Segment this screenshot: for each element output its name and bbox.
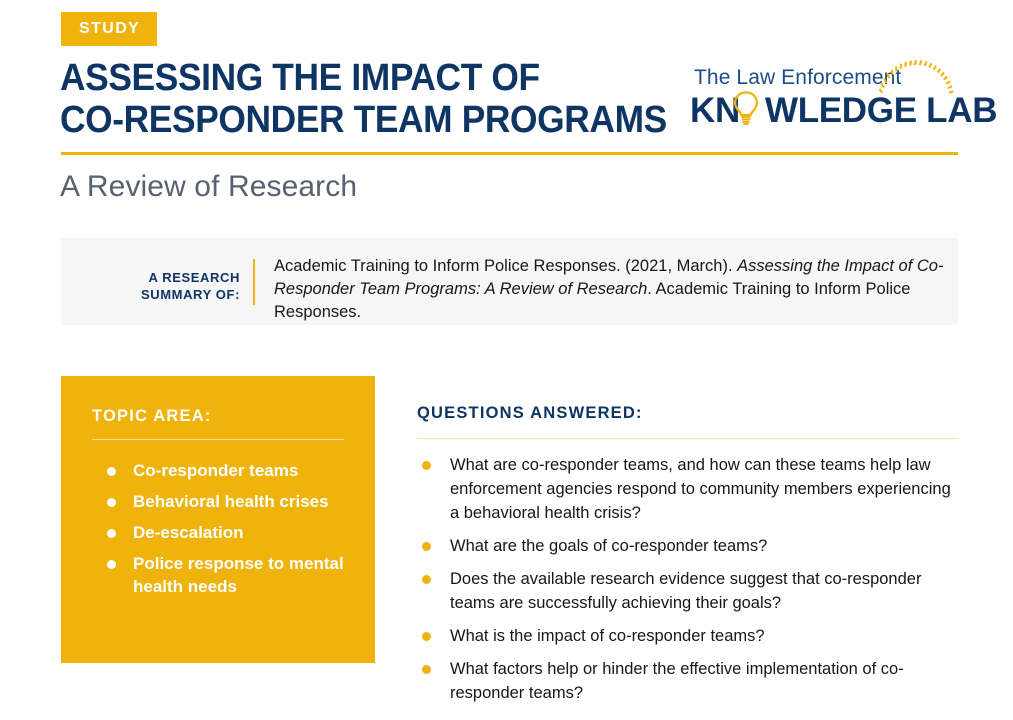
topic-area-panel: TOPIC AREA: Co-responder teams Behaviora… [61, 376, 375, 663]
list-item: Police response to mental health needs [92, 552, 354, 598]
citation-label-line-1: A RESEARCH [149, 270, 240, 285]
question-item-label: Does the available research evidence sug… [450, 570, 921, 612]
bullet-icon [107, 529, 116, 538]
citation-label-line-2: SUMMARY OF: [141, 287, 240, 302]
bullet-icon [107, 498, 116, 507]
page-title-line-2: CO-RESPONDER TEAM PROGRAMS [60, 99, 637, 141]
topic-area-divider-rule [92, 439, 344, 440]
page-title-line-1: ASSESSING THE IMPACT OF [60, 57, 637, 99]
page-title: ASSESSING THE IMPACT OF CO-RESPONDER TEA… [60, 57, 637, 141]
question-item-label: What are co-responder teams, and how can… [450, 456, 951, 522]
research-summary-citation-box: A RESEARCH SUMMARY OF: Academic Training… [61, 238, 958, 325]
knowledge-lab-logo: The Law Enforcement KNWLEDGE LAB [690, 62, 970, 142]
list-item: What are co-responder teams, and how can… [417, 453, 958, 525]
citation-divider-bar [253, 259, 255, 305]
list-item: What factors help or hinder the effectiv… [417, 657, 958, 705]
question-item-label: What factors help or hinder the effectiv… [450, 660, 904, 702]
bullet-icon [422, 665, 431, 674]
bullet-icon [107, 467, 116, 476]
question-item-label: What is the impact of co-responder teams… [450, 627, 765, 645]
lightbulb-icon [733, 91, 759, 125]
citation-text-part-1: Academic Training to Inform Police Respo… [274, 257, 737, 275]
bullet-icon [422, 575, 431, 584]
questions-answered-divider-rule [417, 438, 958, 439]
citation-label: A RESEARCH SUMMARY OF: [82, 269, 240, 303]
study-summary-page: STUDY ASSESSING THE IMPACT OF CO-RESPOND… [0, 0, 1013, 720]
citation-text: Academic Training to Inform Police Respo… [274, 255, 986, 324]
list-item: Co-responder teams [92, 459, 354, 482]
page-subtitle: A Review of Research [60, 170, 357, 204]
question-item-label: What are the goals of co-responder teams… [450, 537, 767, 555]
topic-item-label: Behavioral health crises [133, 492, 329, 511]
list-item: De-escalation [92, 521, 354, 544]
list-item: What is the impact of co-responder teams… [417, 624, 958, 648]
study-badge: STUDY [61, 12, 157, 46]
bullet-icon [422, 461, 431, 470]
bullet-icon [422, 632, 431, 641]
topic-area-heading: TOPIC AREA: [92, 407, 212, 426]
bullet-icon [107, 560, 116, 569]
bullet-icon [422, 542, 431, 551]
topic-item-label: De-escalation [133, 523, 244, 542]
list-item: What are the goals of co-responder teams… [417, 534, 958, 558]
header-divider-rule [61, 152, 958, 155]
topic-item-label: Co-responder teams [133, 461, 298, 480]
questions-answered-heading: QUESTIONS ANSWERED: [417, 404, 643, 423]
topic-item-label: Police response to mental health needs [133, 554, 344, 596]
questions-answered-list: What are co-responder teams, and how can… [417, 453, 958, 714]
list-item: Does the available research evidence sug… [417, 567, 958, 615]
list-item: Behavioral health crises [92, 490, 354, 513]
logo-top-text: The Law Enforcement [694, 66, 901, 90]
light-rays-icon [878, 58, 962, 98]
topic-area-list: Co-responder teams Behavioral health cri… [92, 459, 354, 606]
